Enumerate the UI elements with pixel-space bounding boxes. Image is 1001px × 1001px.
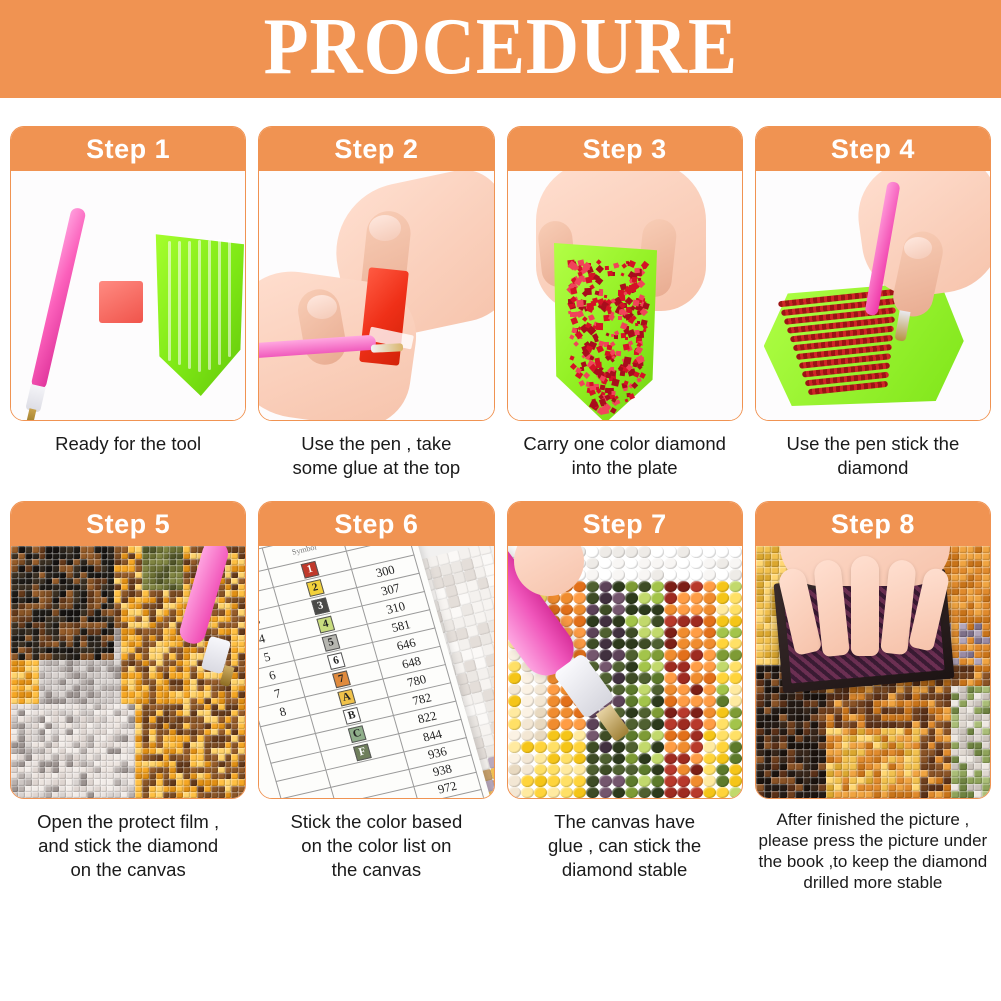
diamond-cell [881, 770, 889, 777]
diamond-cell [59, 779, 66, 785]
diamond-cell [508, 775, 521, 786]
diamond-cell [912, 700, 920, 707]
diamond-cell [32, 672, 39, 678]
diamond-cell [716, 649, 729, 660]
diamond-cell [87, 716, 94, 722]
diamond-cell [197, 735, 204, 741]
diamond-cell [73, 792, 80, 798]
diamond-cell [225, 572, 232, 578]
diamond-cell [834, 756, 842, 763]
diamond-cell [690, 581, 703, 592]
diamond-cell [865, 707, 873, 714]
diamond-cell [873, 728, 881, 735]
diamond-cell [142, 572, 149, 578]
diamond-cell [238, 653, 245, 659]
diamond-cell [703, 718, 716, 729]
diamond-cell [586, 604, 599, 615]
diamond-cell [920, 777, 928, 784]
diamond-cell [912, 686, 920, 693]
diamond-cell [149, 691, 156, 697]
diamond-cell [612, 558, 625, 569]
diamond-cell [756, 574, 764, 581]
diamond-cell [586, 638, 599, 649]
diamond-cell [211, 716, 218, 722]
diamond-cell [959, 588, 967, 595]
diamond-cell [810, 700, 818, 707]
diamond-cell [982, 574, 990, 581]
steps-row-1: Step 1 [0, 126, 1001, 479]
diamond-cell [18, 761, 25, 767]
diamond-cell [982, 637, 990, 644]
diamond-cell [169, 616, 176, 622]
diamond-cell [80, 691, 87, 697]
diamond-cell [764, 749, 772, 756]
diamond-cell [967, 693, 975, 700]
step-1-image [11, 171, 245, 420]
diamond-cell [231, 635, 238, 641]
diamond-cell [238, 572, 245, 578]
diamond-cell [156, 672, 163, 678]
diamond-cell [703, 741, 716, 752]
diamond-cell [52, 742, 59, 748]
diamond-cell [764, 560, 772, 567]
diamond-cell [664, 604, 677, 615]
diamond-cell [690, 764, 703, 775]
diamond-cell [25, 546, 32, 552]
diamond-cell [114, 672, 121, 678]
diamond-cell [888, 770, 896, 777]
diamond-cell [849, 735, 857, 742]
diamond-cell [677, 592, 690, 603]
diamond-cell [756, 595, 764, 602]
diamond-cell [974, 686, 982, 693]
diamond-cell [967, 609, 975, 616]
diamond-cell [959, 609, 967, 616]
diamond-cell [904, 742, 912, 749]
diamond-cell [135, 792, 142, 798]
diamond-cell [779, 770, 787, 777]
diamond-cell [935, 700, 943, 707]
red-diamond [632, 300, 639, 307]
diamond-cell [32, 761, 39, 767]
diamond-cell [586, 592, 599, 603]
diamond-cell [121, 553, 128, 559]
step-8-caption: After finished the picture , please pres… [755, 810, 991, 893]
step-6-header: Step 6 [259, 502, 493, 546]
diamond-cell [121, 792, 128, 798]
diamond-cell [80, 653, 87, 659]
diamond-cell [204, 792, 211, 798]
diamond-cell [842, 707, 850, 714]
diamond-cell [920, 686, 928, 693]
diamond-cell [128, 691, 135, 697]
diamond-cell [612, 581, 625, 592]
diamond-cell [967, 714, 975, 721]
diamond-cell [534, 684, 547, 695]
diamond-cell [703, 649, 716, 660]
diamond-cell [638, 558, 651, 569]
diamond-cell [107, 635, 114, 641]
diamond-cell [11, 635, 18, 641]
diamond-cell [176, 653, 183, 659]
diamond-cell [107, 653, 114, 659]
diamond-cell [231, 742, 238, 748]
diamond-cell [156, 653, 163, 659]
diamond-cell [625, 638, 638, 649]
diamond-cell [547, 684, 560, 695]
diamond-cell [11, 761, 18, 767]
diamond-cell [45, 546, 52, 552]
diamond-cell [771, 749, 779, 756]
diamond-cell [881, 728, 889, 735]
diamond-cell [32, 609, 39, 615]
diamond-cell [756, 735, 764, 742]
diamond-cell [842, 770, 850, 777]
diamond-cell [508, 787, 521, 798]
diamond-cell [888, 742, 896, 749]
diamond-cell [896, 742, 904, 749]
step-3-header: Step 3 [508, 127, 742, 171]
diamond-cell [787, 749, 795, 756]
diamond-cell [101, 635, 108, 641]
diamond-cell [842, 791, 850, 798]
diamond-cell [521, 787, 534, 798]
diamond-cell [951, 686, 959, 693]
diamond-cell [951, 791, 959, 798]
diamond-cell [238, 742, 245, 748]
diamond-cell [534, 718, 547, 729]
diamond-cell [39, 565, 46, 571]
diamond-cell [225, 792, 232, 798]
diamond-cell [982, 602, 990, 609]
diamond-cell [135, 754, 142, 760]
diamond-cell [156, 735, 163, 741]
diamond-cell [664, 558, 677, 569]
diamond-cell [231, 546, 238, 552]
diamond-cell [45, 565, 52, 571]
step-card-1-frame: Step 1 [10, 126, 246, 421]
diamond-cell [982, 651, 990, 658]
diamond-cell [149, 572, 156, 578]
diamond-cell [873, 707, 881, 714]
diamond-cell [135, 742, 142, 748]
diamond-cell [849, 791, 857, 798]
diamond-cell [771, 721, 779, 728]
diamond-cell [534, 730, 547, 741]
diamond-cell [690, 569, 703, 580]
diamond-cell [928, 756, 936, 763]
diamond-cell [873, 686, 881, 693]
diamond-cell [225, 590, 232, 596]
diamond-cell [888, 763, 896, 770]
diamond-cell [690, 787, 703, 798]
diamond-cell [101, 792, 108, 798]
diamond-cell [677, 546, 690, 557]
diamond-cell [690, 638, 703, 649]
step-card-4-frame: Step 4 [755, 126, 991, 421]
diamond-cell [664, 718, 677, 729]
diamond-cell [810, 763, 818, 770]
diamond-cell [107, 754, 114, 760]
diamond-cell [73, 635, 80, 641]
diamond-cell [18, 609, 25, 615]
diamond-cell [982, 735, 990, 742]
diamond-cell [716, 638, 729, 649]
diamond-cell [873, 777, 881, 784]
diamond-cell [176, 679, 183, 685]
diamond-cell [756, 623, 764, 630]
diamond-cell [135, 653, 142, 659]
diamond-cell [974, 714, 982, 721]
diamond-cell [114, 698, 121, 704]
diamond-cell [121, 735, 128, 741]
diamond-cell [935, 679, 943, 686]
diamond-cell [128, 572, 135, 578]
diamond-cell [128, 761, 135, 767]
diamond-cell [534, 695, 547, 706]
diamond-cell [521, 718, 534, 729]
diamond-cell [183, 672, 190, 678]
diamond-cell [826, 777, 834, 784]
diamond-cell [651, 695, 664, 706]
diamond-cell [66, 691, 73, 697]
diamond-cell [943, 721, 951, 728]
diamond-cell [211, 628, 218, 634]
diamond-cell [842, 784, 850, 791]
diamond-cell [982, 749, 990, 756]
diamond-cell [771, 679, 779, 686]
diamond-cell [156, 742, 163, 748]
diamond-cell [121, 691, 128, 697]
pink-pen-icon [30, 207, 86, 391]
diamond-cell [73, 698, 80, 704]
diamond-cell [73, 754, 80, 760]
diamond-cell [982, 553, 990, 560]
diamond-cell [703, 753, 716, 764]
diamond-cell [142, 609, 149, 615]
diamond-cell [94, 635, 101, 641]
diamond-cell [664, 569, 677, 580]
diamond-cell [865, 693, 873, 700]
diamond-cell [18, 590, 25, 596]
diamond-cell [135, 698, 142, 704]
diamond-cell [967, 686, 975, 693]
diamond-cell [716, 661, 729, 672]
diamond-cell [771, 777, 779, 784]
diamond-cell [943, 707, 951, 714]
red-diamond [589, 382, 594, 387]
diamond-cell [101, 672, 108, 678]
diamond-cell [39, 553, 46, 559]
diamond-cell [703, 615, 716, 626]
diamond-cell [904, 756, 912, 763]
diamond-cell [149, 590, 156, 596]
diamond-cell [943, 784, 951, 791]
red-diamond [614, 335, 618, 339]
diamond-cell [625, 787, 638, 798]
diamond-cell [967, 749, 975, 756]
diamond-cell [211, 792, 218, 798]
diamond-cell [169, 609, 176, 615]
step-card-2: Step 2 Use the pen , take some glue at t… [258, 126, 494, 479]
diamond-cell [45, 716, 52, 722]
diamond-cell [80, 565, 87, 571]
diamond-cell [779, 742, 787, 749]
diamond-cell [508, 730, 521, 741]
diamond-cell [87, 742, 94, 748]
diamond-cell [18, 565, 25, 571]
diamond-cell [928, 686, 936, 693]
diamond-cell [826, 763, 834, 770]
red-diamond [595, 358, 601, 364]
diamond-cell [156, 546, 163, 552]
diamond-cell [121, 698, 128, 704]
diamond-cell [982, 693, 990, 700]
diamond-cell [128, 754, 135, 760]
diamond-cell [238, 628, 245, 634]
diamond-cell [779, 756, 787, 763]
diamond-cell [849, 770, 857, 777]
diamond-cell [638, 753, 651, 764]
diamond-cell [114, 546, 121, 552]
diamond-cell [690, 615, 703, 626]
diamond-cell [651, 558, 664, 569]
diamond-cell [729, 592, 742, 603]
diamond-cell [771, 560, 779, 567]
diamond-cell [163, 609, 170, 615]
diamond-cell [857, 784, 865, 791]
diamond-cell [135, 635, 142, 641]
diamond-cell [904, 749, 912, 756]
step-4-illustration [756, 171, 990, 420]
diamond-cell [764, 784, 772, 791]
diamond-cell [39, 691, 46, 697]
diamond-cell [756, 763, 764, 770]
diamond-cell [114, 590, 121, 596]
step-card-6: Step 6 NO. Symbol DMC [258, 501, 494, 893]
diamond-cell [974, 588, 982, 595]
diamond-cell [690, 604, 703, 615]
diamond-cell [231, 565, 238, 571]
diamond-cell [810, 756, 818, 763]
diamond-cell [881, 784, 889, 791]
diamond-cell [974, 546, 982, 553]
diamond-cell [787, 707, 795, 714]
diamond-cell [716, 707, 729, 718]
diamond-cell [18, 635, 25, 641]
diamond-cell [865, 784, 873, 791]
diamond-cell [982, 588, 990, 595]
red-diamond [596, 323, 603, 330]
step-4-header: Step 4 [756, 127, 990, 171]
diamond-cell [45, 616, 52, 622]
diamond-cell [190, 779, 197, 785]
diamond-cell [197, 672, 204, 678]
diamond-cell [951, 644, 959, 651]
diamond-cell [912, 714, 920, 721]
diamond-cell [974, 637, 982, 644]
diamond-cell [231, 761, 238, 767]
diamond-cell [787, 742, 795, 749]
diamond-cell [818, 763, 826, 770]
diamond-cell [982, 623, 990, 630]
diamond-cell [149, 679, 156, 685]
diamond-cell [881, 749, 889, 756]
diamond-cell [547, 787, 560, 798]
diamond-cell [810, 791, 818, 798]
step-1-illustration [11, 171, 245, 420]
diamond-cell [218, 609, 225, 615]
diamond-cell [803, 721, 811, 728]
diamond-cell [920, 784, 928, 791]
diamond-cell [651, 569, 664, 580]
step-3-illustration [508, 171, 742, 420]
diamond-cell [959, 735, 967, 742]
diamond-cell [586, 764, 599, 775]
diamond-cell [935, 686, 943, 693]
diamond-cell [729, 638, 742, 649]
diamond-cell [803, 749, 811, 756]
diamond-cell [967, 700, 975, 707]
diamond-cell [94, 616, 101, 622]
diamond-cell [834, 777, 842, 784]
diamond-cell [974, 728, 982, 735]
diamond-cell [857, 742, 865, 749]
diamond-cell [66, 616, 73, 622]
diamond-cell [982, 616, 990, 623]
diamond-cell [586, 718, 599, 729]
diamond-cell [826, 714, 834, 721]
diamond-cell [912, 735, 920, 742]
diamond-cell [904, 791, 912, 798]
diamond-cell [959, 672, 967, 679]
diamond-cell [803, 693, 811, 700]
diamond-cell [547, 695, 560, 706]
step-6-image: NO. Symbol DMC 1122300333074431055581666… [259, 546, 493, 798]
diamond-cell [818, 777, 826, 784]
step-4-caption: Use the pen stick the diamond [755, 432, 991, 479]
diamond-cell [238, 590, 245, 596]
diamond-cell [204, 716, 211, 722]
diamond-cell [238, 616, 245, 622]
diamond-cell [204, 742, 211, 748]
diamond-cell [756, 756, 764, 763]
diamond-cell [73, 572, 80, 578]
diamond-cell [114, 616, 121, 622]
diamond-cell [943, 679, 951, 686]
diamond-cell [951, 749, 959, 756]
step-7-caption: The canvas have glue , can stick the dia… [507, 810, 743, 881]
diamond-cell [826, 721, 834, 728]
diamond-cell [80, 698, 87, 704]
diamond-cell [32, 698, 39, 704]
diamond-cell [865, 721, 873, 728]
diamond-cell [974, 574, 982, 581]
diamond-cell [94, 742, 101, 748]
diamond-cell [80, 742, 87, 748]
diamond-cell [764, 756, 772, 763]
diamond-cell [651, 787, 664, 798]
diamond-cell [677, 558, 690, 569]
diamond-cell [803, 770, 811, 777]
diamond-cell [599, 741, 612, 752]
diamond-cell [888, 777, 896, 784]
diamond-cell [764, 623, 772, 630]
diamond-cell [114, 716, 121, 722]
diamond-cell [149, 761, 156, 767]
diamond-cell [87, 653, 94, 659]
diamond-cell [943, 686, 951, 693]
